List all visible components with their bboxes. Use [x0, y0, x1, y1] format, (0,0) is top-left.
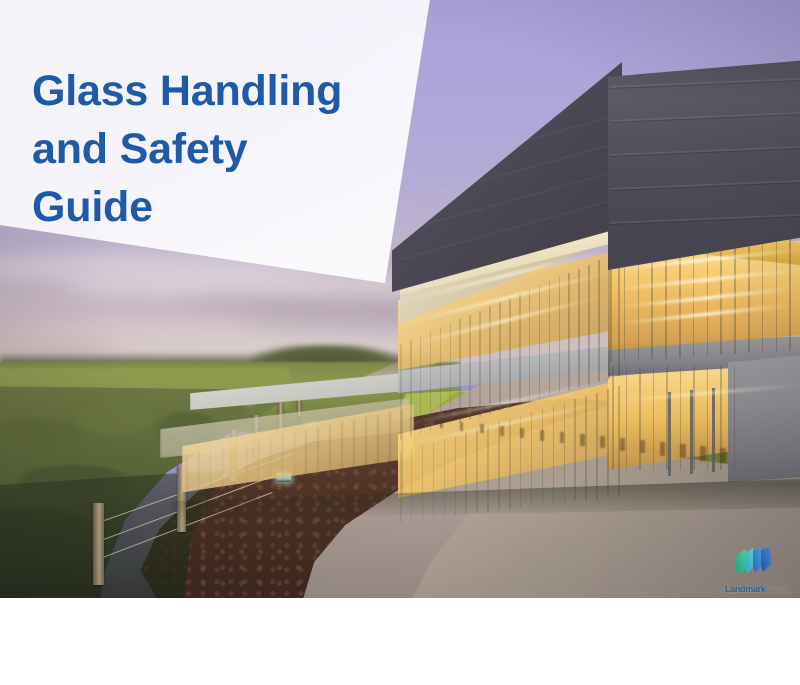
facade-mullion — [542, 409, 544, 505]
logo-wordmark-secondary: Glass — [766, 584, 788, 594]
logo-wordmark-primary: Landmark — [725, 584, 766, 594]
facade-mullion — [487, 426, 489, 512]
facade-mullion — [607, 389, 609, 497]
facade-mullion — [509, 298, 511, 408]
facade-mullion — [270, 437, 272, 500]
facade-mullion — [519, 294, 521, 405]
interior-furniture-silhouette — [600, 436, 605, 448]
facade-mullion — [353, 420, 355, 496]
facade-mullion — [186, 454, 188, 504]
entrance-door-mullion — [712, 388, 715, 472]
facade-mullion — [707, 233, 709, 356]
interior-furniture-silhouette — [520, 428, 524, 438]
facade-mullion — [411, 449, 413, 521]
facade-mullion — [618, 252, 620, 376]
solid-wall-panel — [728, 352, 800, 482]
facade-mullion — [720, 232, 722, 355]
interior-furniture-silhouette — [500, 426, 504, 436]
facade-mullion — [549, 281, 551, 396]
interior-furniture-silhouette — [580, 434, 585, 446]
cover-page: Glass Handling and Safety Guide — [0, 0, 800, 685]
cover-photograph: Glass Handling and Safety Guide — [0, 0, 800, 598]
facade-mullion — [596, 393, 598, 499]
interior-furniture-silhouette — [480, 424, 484, 433]
facade-mullion — [329, 425, 331, 498]
facade-mullion — [568, 273, 570, 391]
facade-mullion — [639, 366, 641, 470]
facade-mullion — [317, 427, 319, 498]
facade-mullion — [365, 417, 367, 495]
page-title: Glass Handling and Safety Guide — [32, 62, 402, 236]
facade-mullion — [529, 290, 531, 403]
interior-furniture-silhouette — [640, 440, 645, 453]
page-white-margin — [0, 598, 800, 685]
interior-furniture-silhouette — [660, 442, 665, 456]
facade-mullion — [222, 447, 224, 503]
title-line-3: Guide — [32, 178, 402, 236]
facade-mullion — [476, 429, 478, 513]
facade-mullion — [610, 242, 612, 362]
interior-furniture-silhouette — [560, 432, 564, 443]
interior-furniture-silhouette — [420, 418, 423, 426]
facade-mullion — [455, 436, 457, 516]
logo-wordmark: LandmarkGlass — [718, 584, 794, 594]
facade-mullion — [234, 444, 236, 502]
facade-mullion — [499, 302, 501, 411]
facade-mullion — [588, 265, 590, 385]
facade-mullion — [585, 396, 587, 500]
facade-mullion — [693, 234, 695, 357]
facade-mullion — [377, 415, 379, 495]
facade-mullion — [559, 277, 561, 393]
facade-mullion — [638, 239, 640, 360]
interior-furniture-silhouette — [460, 422, 463, 431]
facade-mullion — [553, 406, 555, 504]
title-line-1: Glass Handling — [32, 62, 402, 120]
facade-mullion — [578, 269, 580, 388]
entrance-door-mullion — [668, 392, 671, 476]
facade-mullion — [433, 442, 435, 518]
building-base-shadow — [170, 478, 800, 520]
facade-mullion — [665, 237, 667, 359]
facade-mullion — [574, 399, 576, 501]
title-line-2: and Safety — [32, 120, 402, 178]
facade-mullion — [612, 366, 614, 470]
ground-floor-glazing-right — [608, 362, 736, 470]
facade-mullion — [305, 430, 307, 499]
interior-furniture-silhouette — [680, 444, 686, 458]
facade-mullion — [389, 412, 391, 494]
facade-mullion — [210, 449, 212, 503]
facade-mullion — [509, 419, 511, 509]
facade-mullion — [459, 319, 461, 423]
facade-mullion — [282, 434, 284, 499]
facade-mullion — [734, 366, 736, 470]
leaf-chevron-logo-mark — [732, 546, 778, 578]
interior-furniture-silhouette — [440, 420, 443, 428]
facade-mullion — [246, 442, 248, 501]
facade-mullion — [653, 366, 655, 470]
facade-mullion — [539, 285, 541, 399]
facade-mullion — [608, 256, 610, 379]
facade-mullion — [624, 241, 626, 361]
facade-mullion — [198, 452, 200, 504]
facade-mullion — [444, 439, 446, 517]
facade-mullion — [450, 323, 452, 425]
facade-mullion — [531, 412, 533, 506]
facade-mullion — [707, 366, 709, 470]
facade-mullion — [693, 366, 695, 470]
facade-mullion — [564, 403, 566, 503]
interior-furniture-silhouette — [620, 438, 625, 451]
facade-mullion — [598, 260, 600, 381]
interior-furniture-silhouette — [720, 448, 726, 463]
facade-mullion — [666, 366, 668, 470]
facade-mullion — [679, 236, 681, 358]
facade-mullion — [258, 439, 260, 500]
facade-mullion — [626, 366, 628, 470]
facade-mullion — [651, 238, 653, 359]
facade-mullion — [465, 432, 467, 514]
facade-mullion — [440, 327, 442, 428]
facade-mullion — [294, 432, 296, 499]
facade-mullion — [341, 422, 343, 497]
facade-mullion — [422, 445, 424, 519]
company-logo[interactable]: LandmarkGlass — [718, 546, 794, 594]
interior-furniture-silhouette — [540, 430, 544, 441]
interior-furniture-silhouette — [700, 446, 706, 461]
